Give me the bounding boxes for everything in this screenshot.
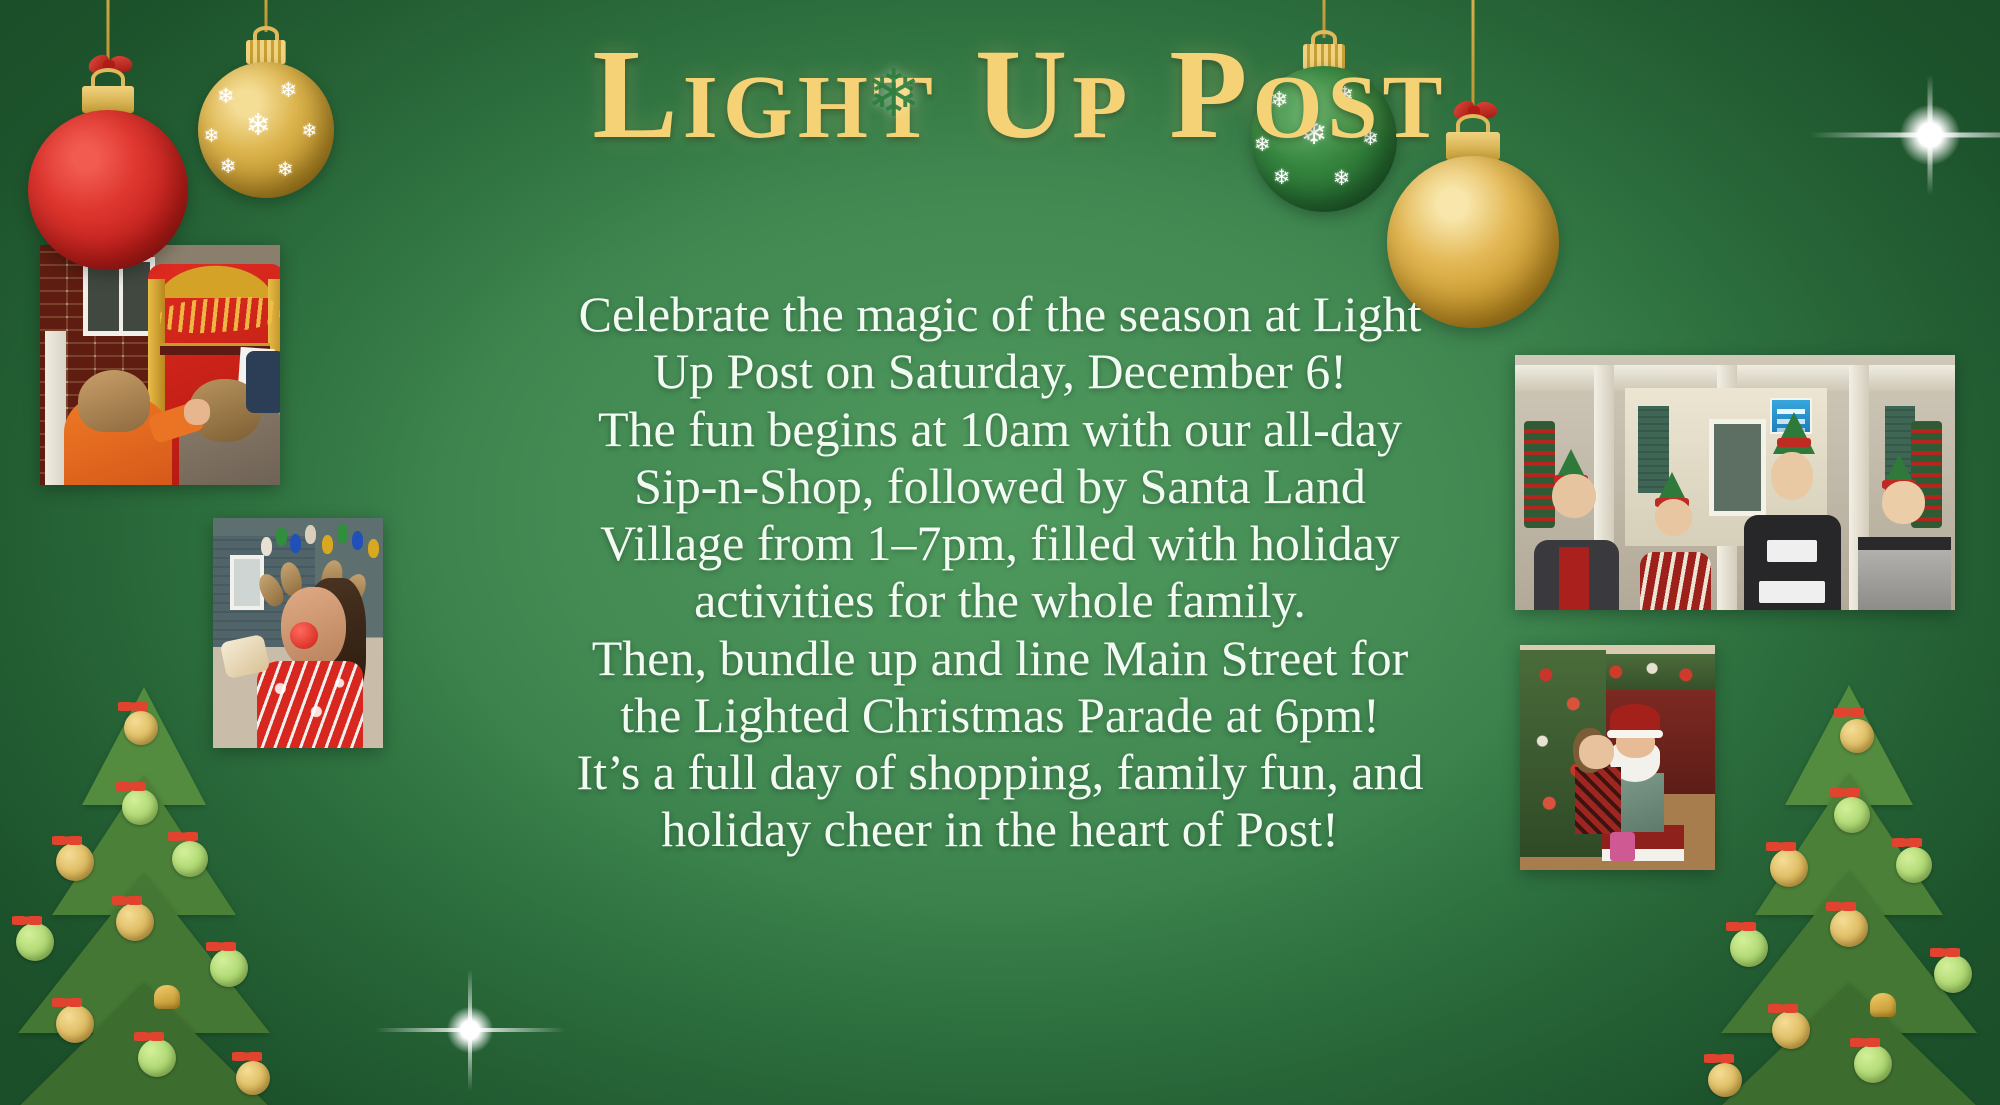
body-line: Celebrate the magic of the season at Lig…	[470, 286, 1530, 343]
body-line: Sip-n-Shop, followed by Santa Land	[470, 458, 1530, 515]
body-line: It’s a full day of shopping, family fun,…	[470, 744, 1530, 801]
green-snowflake-sparkle-icon: ❄	[866, 62, 936, 144]
event-description: Celebrate the magic of the season at Lig…	[470, 286, 1530, 859]
body-line: Village from 1–7pm, filled with holiday	[470, 515, 1530, 572]
body-line: The fun begins at 10am with our all-day	[470, 401, 1530, 458]
photo-santa-mailbox	[40, 245, 280, 485]
bell-icon	[1870, 993, 1896, 1017]
body-line: Then, bundle up and line Main Street for	[470, 630, 1530, 687]
holiday-event-flyer: ❄ ❄ ❄ ❄ ❄ ❄ ❄ ❄ ❄ ❄ ❄ ❄ ❄ ❄	[0, 0, 2000, 1105]
christmas-tree-left	[0, 635, 294, 1105]
photo-santa-visit	[1520, 645, 1715, 870]
flyer-title-container: Light Up Post	[0, 30, 2000, 158]
christmas-tree-right	[1694, 635, 2000, 1105]
body-line: the Lighted Christmas Parade at 6pm!	[470, 687, 1530, 744]
body-line: Up Post on Saturday, December 6!	[470, 343, 1530, 400]
santa-hat-icon	[1610, 704, 1661, 733]
sparkle-star-icon	[370, 960, 570, 1100]
body-line: holiday cheer in the heart of Post!	[470, 801, 1530, 858]
photo-elf-teens	[1515, 355, 1955, 610]
page-title: Light Up Post	[552, 30, 1447, 158]
body-line: activities for the whole family.	[470, 572, 1530, 629]
bell-icon	[154, 985, 180, 1009]
